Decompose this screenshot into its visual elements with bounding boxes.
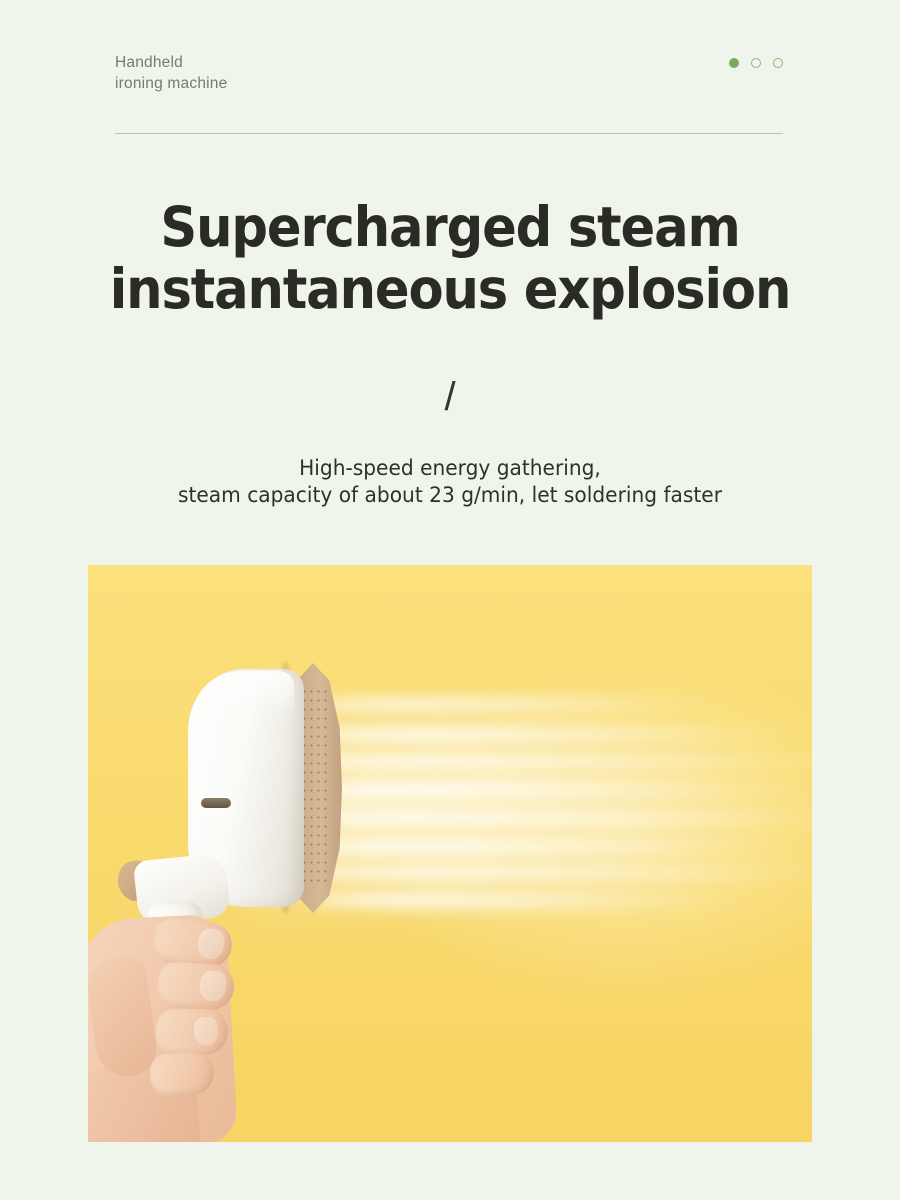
product-feature-page: Handheld ironing machine Supercharged st… [0,0,900,1200]
subtitle: High-speed energy gathering, steam capac… [18,455,882,509]
header-divider [115,133,783,134]
carousel-dot-3[interactable] [773,58,783,68]
subtitle-line-1: High-speed energy gathering, [18,455,882,482]
page-title: Supercharged steam instantaneous explosi… [32,196,869,320]
product-photo [88,565,812,1142]
carousel-dot-2[interactable] [751,58,761,68]
fingernail [194,1017,218,1045]
steam-jet [308,779,812,801]
subtitle-line-2: steam capacity of about 23 g/min, let so… [18,482,882,509]
carousel-dot-1-active[interactable] [729,58,739,68]
steam-jet [312,891,752,909]
headline-line-1: Supercharged steam [32,196,869,258]
headline-line-2: instantaneous explosion [32,258,869,320]
steam-jet [310,725,810,744]
finger [149,1051,216,1097]
power-indicator [201,798,231,808]
steam-jet [306,697,736,712]
steam-jet [310,837,800,857]
slash-separator: / [0,374,900,420]
carousel-dots[interactable] [729,58,783,68]
page-header: Handheld ironing machine [115,52,783,114]
brand-label: Handheld ironing machine [115,52,227,94]
